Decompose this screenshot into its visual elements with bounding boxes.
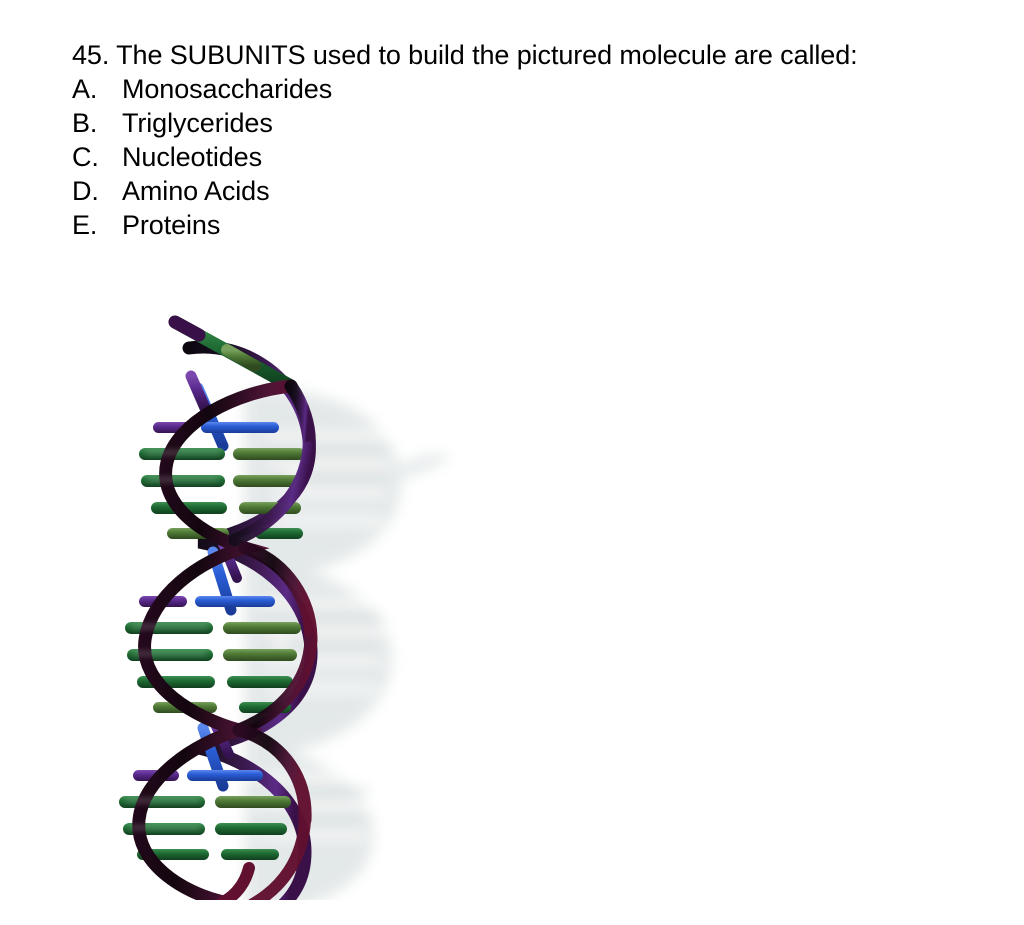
option-letter-b: B. (72, 106, 122, 140)
dna-double-helix-icon (95, 300, 465, 900)
question-block: 45. The SUBUNITS used to build the pictu… (72, 38, 972, 242)
option-text-c: Nucleotides (122, 140, 262, 174)
option-letter-e: E. (72, 208, 122, 242)
option-text-e: Proteins (122, 208, 220, 242)
rung-purple-vertical-1 (191, 376, 205, 408)
option-row-c[interactable]: C. Nucleotides (72, 140, 972, 174)
option-text-a: Monosaccharides (122, 72, 332, 106)
dna-figure (95, 300, 465, 900)
question-stem: 45. The SUBUNITS used to build the pictu… (72, 38, 972, 72)
option-letter-a: A. (72, 72, 122, 106)
rung-row (137, 849, 279, 860)
option-row-a[interactable]: A. Monosaccharides (72, 72, 972, 106)
option-row-e[interactable]: E. Proteins (72, 208, 972, 242)
rung-row (153, 422, 279, 433)
option-text-d: Amino Acids (122, 174, 269, 208)
option-row-d[interactable]: D. Amino Acids (72, 174, 972, 208)
option-letter-d: D. (72, 174, 122, 208)
option-row-b[interactable]: B. Triglycerides (72, 106, 972, 140)
option-letter-c: C. (72, 140, 122, 174)
option-text-b: Triglycerides (122, 106, 273, 140)
